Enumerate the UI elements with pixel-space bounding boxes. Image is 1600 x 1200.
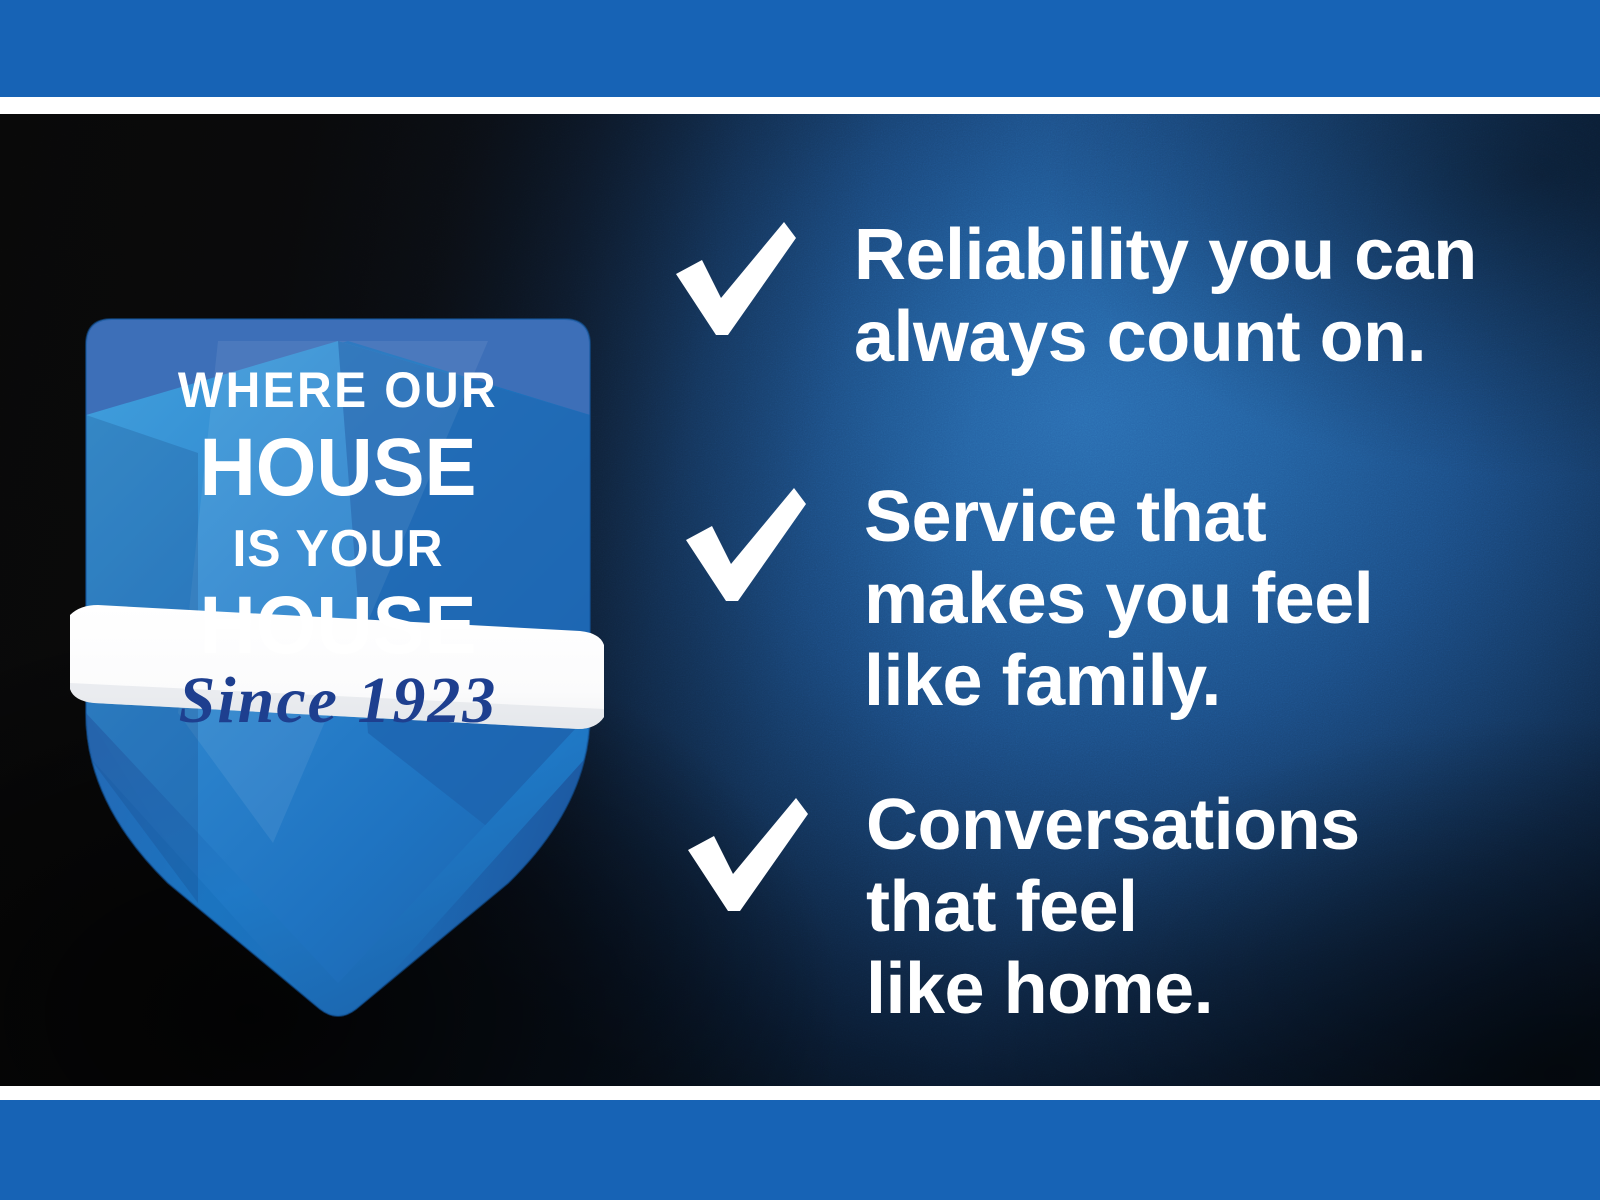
benefit-text-reliability: Reliability you can always count on. (854, 214, 1477, 378)
benefit-item-conversations: Conversations that feel like home. (680, 784, 1360, 1030)
badge-line-4: House (82, 585, 595, 667)
shield-badge: Where Our House Is Your House Since 1923 (68, 283, 608, 1033)
check-icon (680, 798, 808, 916)
badge-line-3: Is Your (79, 523, 597, 575)
top-brand-bar (0, 0, 1600, 97)
badge-line-1: Where Our (79, 365, 597, 415)
bottom-brand-bar (0, 1100, 1600, 1200)
benefit-text-conversations: Conversations that feel like home. (866, 784, 1360, 1030)
badge-tagline: Where Our House Is Your House (68, 365, 608, 667)
badge-line-2: House (82, 427, 595, 509)
check-icon (678, 488, 806, 606)
badge-since-year: Since 1923 (68, 668, 608, 734)
promo-graphic: Where Our House Is Your House Since 1923… (0, 0, 1600, 1200)
benefit-text-service: Service that makes you feel like family. (864, 476, 1373, 722)
check-icon (668, 222, 796, 340)
artwork-canvas: Where Our House Is Your House Since 1923… (0, 114, 1600, 1086)
benefit-item-reliability: Reliability you can always count on. (668, 214, 1477, 378)
benefit-item-service: Service that makes you feel like family. (678, 476, 1373, 722)
